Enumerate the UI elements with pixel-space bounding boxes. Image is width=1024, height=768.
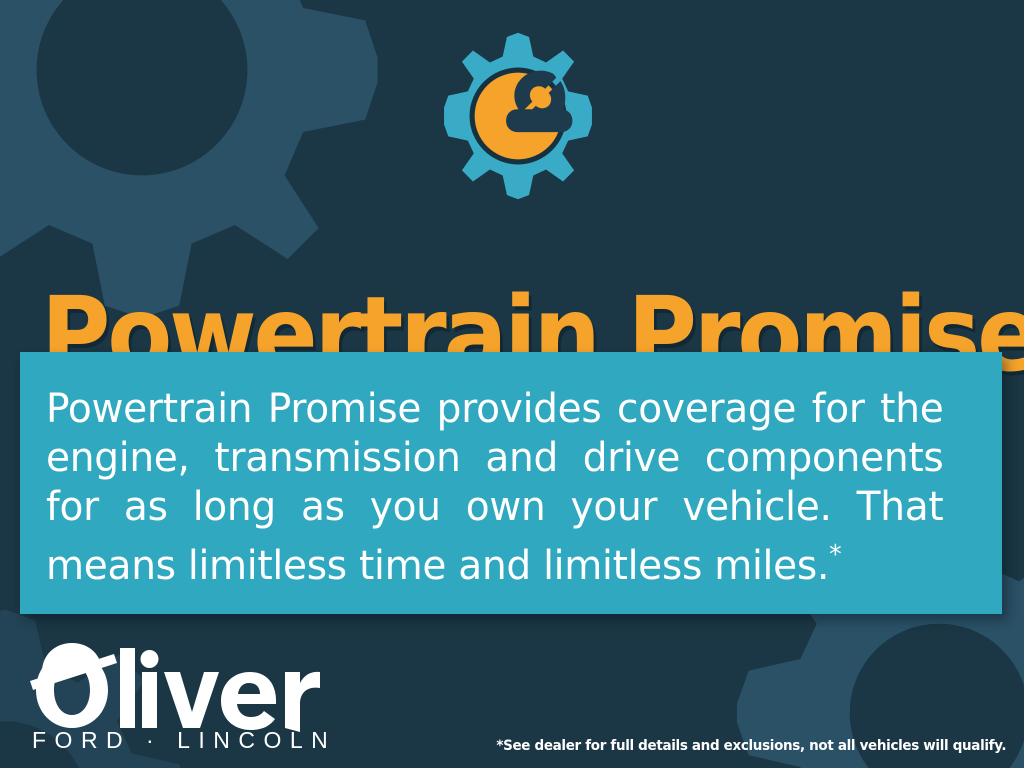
footnote-marker: * [829, 540, 842, 570]
dealer-tagline: FORD · LINCOLN [32, 729, 336, 752]
dealer-logo: FORD · LINCOLN [28, 636, 328, 758]
gear-wrench-icon [433, 31, 603, 201]
description-panel: Powertrain Promise provides coverage for… [20, 352, 1002, 614]
powertrain-promise-poster: Powertrain Promise Powertrain Promise pr… [0, 0, 1024, 768]
description-text: Powertrain Promise provides coverage for… [46, 384, 943, 590]
disclaimer-text: *See dealer for full details and exclusi… [496, 738, 1006, 754]
oliver-bowler-hat-logo [28, 636, 328, 734]
description-body: Powertrain Promise provides coverage for… [46, 384, 943, 589]
